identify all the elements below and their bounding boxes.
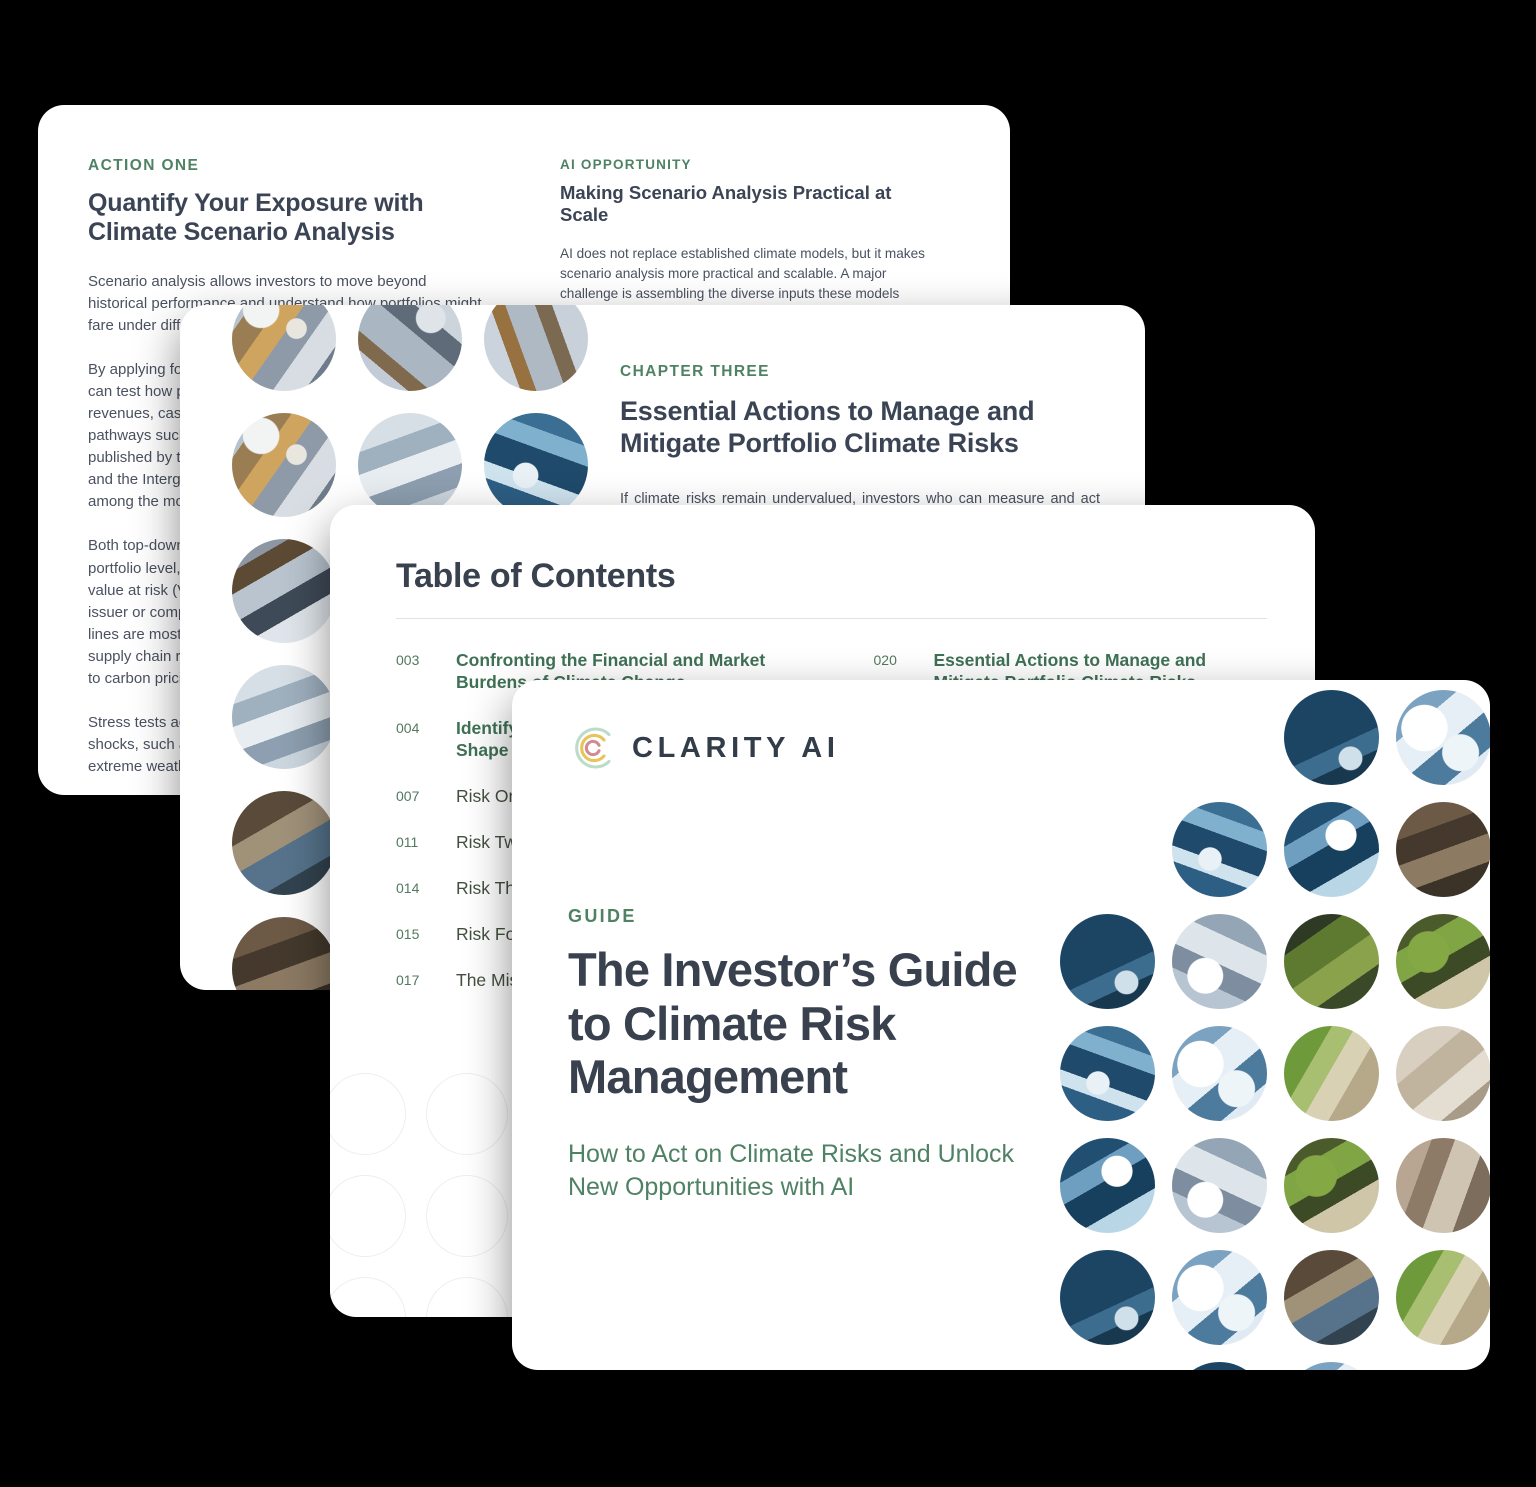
photo-circle bbox=[1396, 690, 1490, 785]
photo-circle-placeholder bbox=[1060, 1362, 1155, 1370]
photo-circle bbox=[484, 413, 588, 517]
toc-entry-page-number: 004 bbox=[396, 717, 430, 736]
cover-photo-circle-grid bbox=[1060, 690, 1490, 1370]
watermark-circle bbox=[330, 1073, 406, 1155]
toc-entry-page-number: 007 bbox=[396, 785, 430, 804]
clarity-ai-logo: CLARITY AI bbox=[568, 724, 1038, 772]
photo-circle bbox=[1172, 1362, 1267, 1370]
action-one-eyebrow: ACTION ONE bbox=[88, 157, 488, 175]
photo-circle bbox=[484, 305, 588, 391]
photo-circle bbox=[1284, 802, 1379, 897]
cover-eyebrow: GUIDE bbox=[568, 906, 1038, 927]
cover-subtitle: How to Act on Climate Risks and Unlock N… bbox=[568, 1138, 1038, 1205]
photo-circle bbox=[232, 539, 336, 643]
chapter-three-eyebrow: CHAPTER THREE bbox=[620, 363, 1100, 381]
toc-entry-page-number: 003 bbox=[396, 649, 430, 668]
ai-opportunity-heading: Making Scenario Analysis Practical at Sc… bbox=[560, 182, 932, 226]
photo-circle-placeholder bbox=[1060, 802, 1155, 897]
cover-text-block: CLARITY AI GUIDE The Investor’s Guide to… bbox=[568, 724, 1038, 1205]
photo-circle bbox=[1284, 1138, 1379, 1233]
watermark-circle bbox=[330, 1277, 406, 1317]
photo-circle bbox=[232, 305, 336, 391]
photo-circle bbox=[1060, 914, 1155, 1009]
photo-circle bbox=[232, 665, 336, 769]
toc-divider bbox=[396, 618, 1267, 619]
watermark-circle bbox=[426, 1175, 508, 1257]
photo-circle bbox=[1284, 1250, 1379, 1345]
document-card-cover[interactable]: CLARITY AI GUIDE The Investor’s Guide to… bbox=[512, 680, 1490, 1370]
photo-circle bbox=[1396, 914, 1490, 1009]
photo-circle bbox=[1172, 1250, 1267, 1345]
photo-circle bbox=[1172, 914, 1267, 1009]
action-one-heading: Quantify Your Exposure with Climate Scen… bbox=[88, 189, 488, 247]
watermark-circle bbox=[426, 1277, 508, 1317]
ai-opportunity-eyebrow: AI OPPORTUNITY bbox=[560, 157, 932, 172]
toc-entry-page-number: 011 bbox=[396, 831, 430, 850]
photo-circle-placeholder bbox=[1396, 1362, 1490, 1370]
photo-circle bbox=[232, 791, 336, 895]
toc-title: Table of Contents bbox=[396, 557, 1267, 596]
photo-circle-placeholder bbox=[1172, 690, 1267, 785]
photo-circle bbox=[232, 917, 336, 990]
photo-circle bbox=[1284, 914, 1379, 1009]
toc-entry-page-number: 020 bbox=[874, 649, 908, 668]
photo-circle bbox=[1060, 1026, 1155, 1121]
clarity-c-arcs-icon bbox=[568, 724, 616, 772]
photo-circle bbox=[1284, 690, 1379, 785]
toc-entry-page-number: 015 bbox=[396, 923, 430, 942]
photo-circle bbox=[1060, 1138, 1155, 1233]
photo-circle bbox=[1060, 1250, 1155, 1345]
photo-circle bbox=[358, 305, 462, 391]
photo-circle bbox=[1172, 1026, 1267, 1121]
photo-circle bbox=[1396, 1250, 1490, 1345]
chapter-three-title: Essential Actions to Manage and Mitigate… bbox=[620, 395, 1100, 460]
photo-circle bbox=[358, 413, 462, 517]
watermark-circle bbox=[426, 1073, 508, 1155]
photo-circle bbox=[1396, 1026, 1490, 1121]
photo-circle bbox=[1396, 802, 1490, 897]
clarity-ai-wordmark: CLARITY AI bbox=[632, 732, 840, 765]
photo-circle bbox=[1284, 1026, 1379, 1121]
watermark-circle bbox=[330, 1175, 406, 1257]
photo-circle bbox=[1284, 1362, 1379, 1370]
toc-entry-page-number: 017 bbox=[396, 969, 430, 988]
photo-circle-placeholder bbox=[1060, 690, 1155, 785]
photo-circle bbox=[1396, 1138, 1490, 1233]
photo-circle bbox=[232, 413, 336, 517]
toc-entry-page-number: 014 bbox=[396, 877, 430, 896]
screenshot-stage: ACTION ONE Quantify Your Exposure with C… bbox=[0, 0, 1536, 1487]
photo-circle bbox=[1172, 1138, 1267, 1233]
photo-circle bbox=[1172, 802, 1267, 897]
cover-title: The Investor’s Guide to Climate Risk Man… bbox=[568, 943, 1038, 1104]
